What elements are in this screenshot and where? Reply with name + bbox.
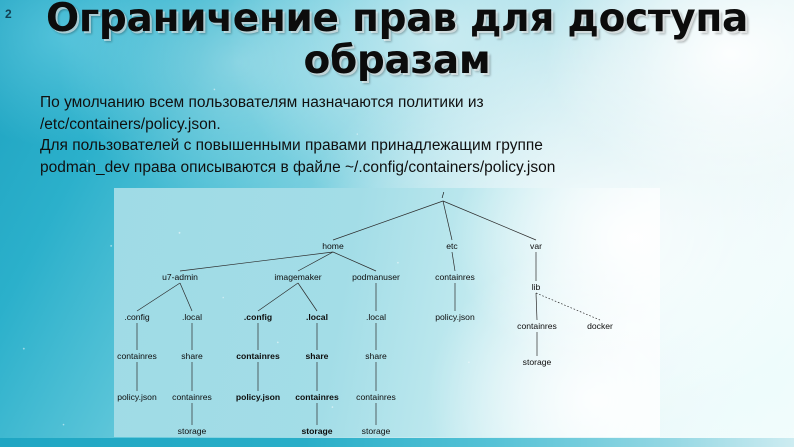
tree-node-imagemaker: imagemaker: [274, 272, 321, 282]
tree-node-u7_config: .config: [124, 312, 149, 322]
slide-canvas: 2 Ограничение прав для доступа образам П…: [0, 0, 794, 447]
tree-node-u7_local: .local: [182, 312, 202, 322]
body-text: По умолчанию всем пользователям назначаю…: [40, 92, 770, 178]
body-line-2: /etc/containers/policy.json.: [40, 114, 770, 136]
tree-node-im_sh_cont: containres: [295, 392, 338, 402]
tree-node-u7_sh_cont: containres: [172, 392, 212, 402]
tree-node-home: home: [322, 241, 344, 251]
tree-node-im_share: share: [306, 351, 329, 361]
tree-node-lib_docker: docker: [587, 321, 613, 331]
tree-node-podmanuser: podmanuser: [352, 272, 400, 282]
body-line-3: Для пользователей с повышенными правами …: [40, 135, 770, 157]
tree-node-pu_local: .local: [366, 312, 386, 322]
page-title: Ограничение прав для доступа образам: [10, 0, 784, 82]
tree-node-im_storage: storage: [301, 426, 332, 436]
tree-node-u7_policy: policy.json: [117, 392, 157, 402]
tree-node-im_policy: policy.json: [236, 392, 280, 402]
tree-node-u7_share: share: [181, 351, 203, 361]
tree-node-im_config: .config: [244, 312, 272, 322]
tree-node-im_cont: containres: [236, 351, 279, 361]
tree-node-var: var: [530, 241, 542, 251]
tree-node-pu_sh_cont: containres: [356, 392, 396, 402]
body-line-1: По умолчанию всем пользователям назначаю…: [40, 92, 770, 114]
tree-node-root: /: [442, 190, 444, 200]
tree-nodes: /homeetcvaru7-adminimagemakerpodmanuserc…: [114, 188, 660, 437]
tree-node-var_lib: lib: [532, 282, 541, 292]
tree-node-etc: etc: [446, 241, 457, 251]
bottom-accent-strip: [0, 438, 794, 447]
tree-node-pu_share: share: [365, 351, 387, 361]
filesystem-tree-image: /homeetcvaru7-adminimagemakerpodmanuserc…: [114, 188, 660, 437]
tree-node-etc_cont: containres: [435, 272, 475, 282]
tree-node-im_local: .local: [306, 312, 328, 322]
tree-node-lib_storage: storage: [523, 357, 552, 367]
body-line-4: podman_dev права описываются в файле ~/.…: [40, 157, 770, 179]
tree-node-lib_cont: containres: [517, 321, 557, 331]
tree-node-pu_storage: storage: [362, 426, 391, 436]
tree-node-etc_policy: policy.json: [435, 312, 475, 322]
tree-node-u7_storage: storage: [178, 426, 207, 436]
tree-node-u7_cont: containres: [117, 351, 157, 361]
tree-node-u7admin: u7-admin: [162, 272, 198, 282]
